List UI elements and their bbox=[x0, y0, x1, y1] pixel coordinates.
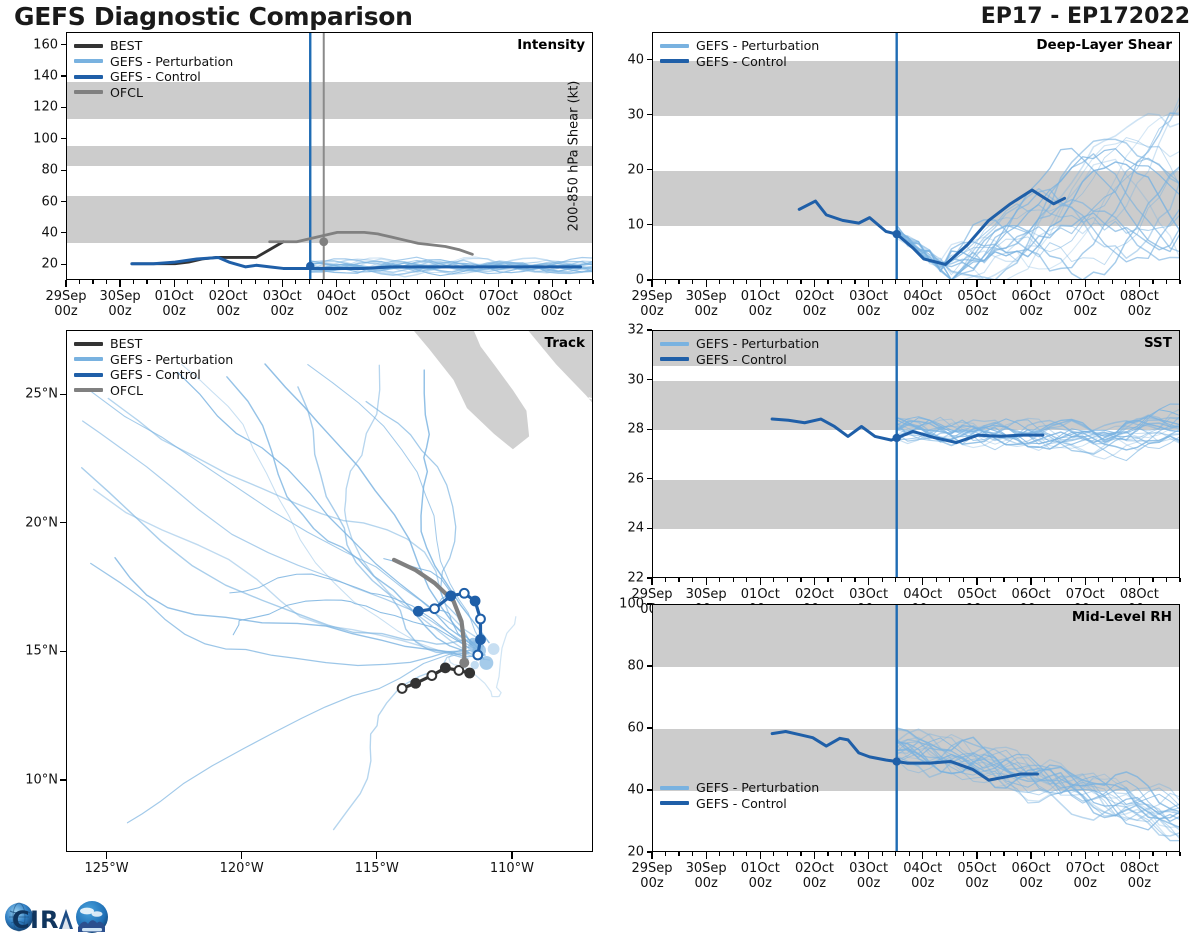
x-tick-mark bbox=[1139, 852, 1140, 859]
x-tick-hour: 00z bbox=[1120, 876, 1159, 891]
x-tick-mark bbox=[1030, 578, 1031, 585]
x-tick-mark bbox=[760, 280, 761, 287]
legend-swatch-control bbox=[74, 75, 103, 79]
x-tick-mark bbox=[1003, 852, 1004, 856]
x-tick-hour: 00z bbox=[686, 876, 727, 891]
x-tick-mark bbox=[1179, 578, 1180, 582]
x-tick-mark bbox=[841, 578, 842, 582]
x-tick-mark bbox=[525, 280, 526, 284]
x-tick-mark bbox=[1071, 578, 1072, 582]
y-tick-label: 0 bbox=[608, 273, 644, 288]
x-tick-mark bbox=[390, 280, 391, 287]
y-tick-label: 60 bbox=[22, 194, 58, 209]
x-tick-mark bbox=[1030, 852, 1031, 859]
x-tick-date: 07Oct bbox=[1066, 861, 1105, 876]
x-tick-mark bbox=[309, 280, 310, 284]
x-tick-mark bbox=[484, 280, 485, 284]
x-tick-mark bbox=[1017, 852, 1018, 856]
x-tick-hour: 00z bbox=[957, 304, 996, 319]
legend-sst: GEFS - PerturbationGEFS - Control bbox=[660, 336, 819, 367]
x-tick-mark bbox=[430, 280, 431, 284]
x-tick-date: 07Oct bbox=[1066, 289, 1105, 304]
ensemble-track-line bbox=[91, 563, 470, 665]
x-tick-label: 03Oct00z bbox=[849, 289, 888, 320]
x-tick-date: 03Oct bbox=[849, 289, 888, 304]
x-tick-mark bbox=[854, 280, 855, 284]
svg-text:I: I bbox=[30, 906, 39, 934]
x-tick-mark bbox=[1044, 852, 1045, 856]
x-tick-mark bbox=[295, 280, 296, 284]
x-tick-hour: 00z bbox=[741, 304, 780, 319]
x-tick-mark bbox=[665, 280, 666, 284]
x-tick-mark bbox=[579, 280, 580, 284]
x-tick-label: 05Oct00z bbox=[957, 289, 996, 320]
x-tick-mark bbox=[1071, 280, 1072, 284]
track-position-marker bbox=[476, 615, 485, 624]
x-tick-label: 29Sep00z bbox=[45, 289, 86, 320]
x-tick-mark bbox=[963, 280, 964, 284]
x-tick-mark bbox=[936, 578, 937, 582]
track-position-marker bbox=[398, 684, 407, 693]
x-tick-mark bbox=[1085, 852, 1086, 859]
x-tick-hour: 00z bbox=[957, 876, 996, 891]
panel-title-shear: Deep-Layer Shear bbox=[1036, 37, 1172, 53]
x-tick-date: 05Oct bbox=[957, 861, 996, 876]
legend-label-perturbation: GEFS - Perturbation bbox=[110, 352, 233, 367]
lat-tick-label: 20°N bbox=[8, 515, 58, 530]
x-tick-hour: 00z bbox=[795, 304, 834, 319]
track-position-marker bbox=[476, 635, 485, 644]
x-tick-mark bbox=[895, 280, 896, 284]
x-tick-label: 06Oct00z bbox=[425, 289, 464, 320]
x-tick-mark bbox=[1179, 852, 1180, 856]
x-tick-mark bbox=[106, 280, 107, 284]
x-tick-hour: 00z bbox=[1012, 876, 1051, 891]
x-tick-mark bbox=[1044, 578, 1045, 582]
x-tick-mark bbox=[1125, 852, 1126, 856]
legend-item-perturbation[interactable]: GEFS - Perturbation bbox=[74, 54, 233, 70]
x-tick-mark bbox=[1071, 852, 1072, 856]
legend-item-control[interactable]: GEFS - Control bbox=[74, 367, 233, 383]
lon-tick-mark bbox=[511, 852, 512, 859]
x-tick-mark bbox=[79, 280, 80, 284]
x-tick-mark bbox=[268, 280, 269, 284]
x-tick-mark bbox=[92, 280, 93, 284]
x-tick-date: 03Oct bbox=[263, 289, 302, 304]
x-tick-date: 30Sep bbox=[686, 289, 727, 304]
x-tick-mark bbox=[787, 852, 788, 856]
series-line-ofcl bbox=[270, 232, 473, 254]
x-tick-date: 06Oct bbox=[1012, 587, 1051, 602]
y-tick-label: 60 bbox=[608, 721, 644, 736]
x-tick-mark bbox=[990, 852, 991, 856]
control-init-marker bbox=[892, 434, 900, 442]
ensemble-member-line bbox=[897, 162, 1180, 272]
legend-label-control: GEFS - Control bbox=[696, 352, 787, 367]
x-tick-mark bbox=[665, 578, 666, 582]
plot-area-sst: SST bbox=[652, 330, 1180, 578]
x-tick-mark bbox=[1058, 280, 1059, 284]
x-tick-hour: 00z bbox=[1120, 304, 1159, 319]
x-tick-mark bbox=[1003, 578, 1004, 582]
x-tick-mark bbox=[1152, 280, 1153, 284]
y-tick-label: 20 bbox=[608, 162, 644, 177]
legend-swatch-perturbation bbox=[660, 44, 689, 48]
y-tick-label: 40 bbox=[608, 783, 644, 798]
x-tick-mark bbox=[773, 280, 774, 284]
x-tick-date: 06Oct bbox=[1012, 289, 1051, 304]
y-tick-label: 40 bbox=[22, 225, 58, 240]
legend-item-ofcl[interactable]: OFCL bbox=[74, 383, 233, 399]
plot-area-rh: Mid-Level RH bbox=[652, 604, 1180, 852]
x-tick-mark bbox=[868, 280, 869, 287]
legend-item-best[interactable]: BEST bbox=[74, 38, 233, 54]
x-tick-mark bbox=[719, 280, 720, 284]
x-tick-label: 08Oct00z bbox=[1120, 289, 1159, 320]
x-tick-label: 04Oct00z bbox=[903, 289, 942, 320]
x-tick-hour: 00z bbox=[849, 304, 888, 319]
legend-label-best: BEST bbox=[110, 336, 142, 351]
series-line-best bbox=[132, 242, 283, 264]
x-tick-mark bbox=[678, 578, 679, 582]
y-tick-label: 32 bbox=[608, 323, 644, 338]
ofcl-init-marker bbox=[319, 237, 328, 246]
lon-tick-mark bbox=[106, 852, 107, 859]
x-tick-mark bbox=[651, 578, 652, 585]
track-position-marker bbox=[441, 663, 450, 672]
track-position-marker bbox=[471, 597, 480, 606]
x-tick-date: 07Oct bbox=[1066, 587, 1105, 602]
track-position-marker bbox=[454, 666, 463, 675]
x-tick-mark bbox=[417, 280, 418, 284]
ofcl-track-endpoint bbox=[459, 658, 469, 668]
lon-tick-label: 125°W bbox=[84, 861, 128, 876]
x-tick-mark bbox=[376, 280, 377, 284]
x-tick-hour: 00z bbox=[686, 304, 727, 319]
ensemble-track-line bbox=[384, 559, 468, 642]
x-tick-mark bbox=[692, 852, 693, 856]
x-tick-hour: 00z bbox=[849, 876, 888, 891]
legend-item-perturbation[interactable]: GEFS - Perturbation bbox=[660, 336, 819, 352]
x-tick-mark bbox=[1112, 852, 1113, 856]
x-tick-mark bbox=[146, 280, 147, 284]
x-tick-label: 30Sep00z bbox=[686, 861, 727, 892]
x-tick-mark bbox=[592, 280, 593, 284]
legend-item-perturbation[interactable]: GEFS - Perturbation bbox=[74, 352, 233, 368]
legend-rh: GEFS - PerturbationGEFS - Control bbox=[660, 780, 819, 811]
x-tick-mark bbox=[133, 280, 134, 284]
legend-item-ofcl[interactable]: OFCL bbox=[74, 85, 233, 101]
legend-swatch-best bbox=[74, 342, 103, 346]
x-tick-hour: 00z bbox=[903, 876, 942, 891]
panel-title-rh: Mid-Level RH bbox=[1072, 609, 1172, 625]
legend-swatch-perturbation bbox=[74, 59, 103, 63]
x-tick-mark bbox=[1139, 280, 1140, 287]
x-tick-mark bbox=[895, 578, 896, 582]
x-tick-mark bbox=[65, 280, 66, 287]
legend-track: BESTGEFS - PerturbationGEFS - ControlOFC… bbox=[74, 336, 233, 398]
legend-swatch-control bbox=[660, 801, 689, 805]
x-tick-mark bbox=[800, 280, 801, 284]
x-tick-mark bbox=[719, 578, 720, 582]
x-tick-mark bbox=[854, 852, 855, 856]
x-tick-date: 02Oct bbox=[795, 289, 834, 304]
x-tick-mark bbox=[909, 280, 910, 284]
x-tick-hour: 00z bbox=[1012, 304, 1051, 319]
legend-item-control[interactable]: GEFS - Control bbox=[74, 69, 233, 85]
x-tick-date: 30Sep bbox=[686, 861, 727, 876]
x-tick-mark bbox=[882, 280, 883, 284]
legend-item-control[interactable]: GEFS - Control bbox=[660, 352, 819, 368]
x-tick-date: 05Oct bbox=[957, 289, 996, 304]
x-tick-mark bbox=[187, 280, 188, 284]
lon-tick-text: 120°W bbox=[220, 861, 264, 876]
x-tick-mark bbox=[1098, 852, 1099, 856]
x-tick-mark bbox=[949, 578, 950, 582]
y-tick-label: 80 bbox=[608, 659, 644, 674]
x-tick-label: 30Sep00z bbox=[100, 289, 141, 320]
x-tick-mark bbox=[363, 280, 364, 284]
x-tick-date: 08Oct bbox=[533, 289, 572, 304]
x-tick-label: 02Oct00z bbox=[795, 861, 834, 892]
x-tick-date: 02Oct bbox=[209, 289, 248, 304]
track-position-marker bbox=[460, 589, 469, 598]
x-tick-mark bbox=[1098, 280, 1099, 284]
x-tick-date: 29Sep bbox=[631, 289, 672, 304]
x-tick-mark bbox=[1003, 280, 1004, 284]
x-tick-label: 07Oct00z bbox=[1066, 861, 1105, 892]
legend-label-perturbation: GEFS - Perturbation bbox=[696, 336, 819, 351]
x-tick-mark bbox=[1125, 578, 1126, 582]
x-tick-date: 29Sep bbox=[45, 289, 86, 304]
x-tick-mark bbox=[922, 852, 923, 859]
x-tick-mark bbox=[814, 578, 815, 585]
panel-title-sst: SST bbox=[1144, 335, 1172, 351]
track-position-marker bbox=[430, 604, 439, 613]
x-tick-hour: 00z bbox=[533, 304, 572, 319]
x-tick-mark bbox=[719, 852, 720, 856]
x-tick-mark bbox=[1152, 852, 1153, 856]
lon-tick-mark bbox=[376, 852, 377, 859]
x-tick-mark bbox=[1166, 280, 1167, 284]
lon-tick-mark bbox=[241, 852, 242, 859]
x-tick-mark bbox=[1017, 578, 1018, 582]
y-tick-label: 24 bbox=[608, 521, 644, 536]
x-tick-mark bbox=[1139, 578, 1140, 585]
y-tick-label: 100 bbox=[22, 131, 58, 146]
x-tick-label: 03Oct00z bbox=[263, 289, 302, 320]
page-title: GEFS Diagnostic Comparison bbox=[14, 2, 413, 31]
x-tick-mark bbox=[882, 852, 883, 856]
x-tick-mark bbox=[201, 280, 202, 284]
x-tick-mark bbox=[1044, 280, 1045, 284]
x-tick-mark bbox=[1152, 578, 1153, 582]
control-init-marker bbox=[892, 230, 900, 238]
series-layer-rh bbox=[653, 605, 1180, 852]
x-tick-label: 07Oct00z bbox=[1066, 289, 1105, 320]
x-tick-mark bbox=[174, 280, 175, 287]
x-tick-label: 06Oct00z bbox=[1012, 289, 1051, 320]
x-tick-hour: 00z bbox=[100, 304, 141, 319]
y-tick-label: 30 bbox=[608, 372, 644, 387]
x-tick-mark bbox=[936, 852, 937, 856]
x-tick-date: 01Oct bbox=[741, 861, 780, 876]
x-tick-mark bbox=[282, 280, 283, 287]
x-tick-mark bbox=[336, 280, 337, 287]
legend-item-perturbation[interactable]: GEFS - Perturbation bbox=[660, 780, 819, 796]
x-tick-mark bbox=[949, 852, 950, 856]
x-tick-mark bbox=[119, 280, 120, 287]
legend-label-control: GEFS - Control bbox=[110, 69, 201, 84]
x-tick-mark bbox=[854, 578, 855, 582]
y-tick-label: 10 bbox=[608, 217, 644, 232]
x-tick-date: 02Oct bbox=[795, 861, 834, 876]
x-tick-label: 05Oct00z bbox=[371, 289, 410, 320]
x-tick-mark bbox=[922, 280, 923, 287]
x-tick-mark bbox=[800, 852, 801, 856]
x-tick-mark bbox=[909, 852, 910, 856]
legend-swatch-best bbox=[74, 44, 103, 49]
x-tick-mark bbox=[746, 578, 747, 582]
plot-area-track: Track bbox=[66, 330, 593, 852]
x-tick-label: 05Oct00z bbox=[957, 861, 996, 892]
legend-swatch-control bbox=[74, 373, 103, 377]
legend-label-perturbation: GEFS - Perturbation bbox=[110, 54, 233, 69]
x-tick-date: 04Oct bbox=[903, 587, 942, 602]
legend-label-control: GEFS - Control bbox=[696, 54, 787, 69]
legend-swatch-perturbation bbox=[660, 342, 689, 346]
series-layer-shear bbox=[653, 33, 1180, 280]
x-tick-mark bbox=[322, 280, 323, 284]
x-tick-date: 08Oct bbox=[1120, 587, 1159, 602]
svg-text:C: C bbox=[12, 906, 30, 934]
x-tick-mark bbox=[787, 578, 788, 582]
x-tick-hour: 00z bbox=[479, 304, 518, 319]
legend-swatch-control bbox=[660, 357, 689, 361]
x-tick-date: 04Oct bbox=[903, 861, 942, 876]
ensemble-track-line bbox=[178, 373, 471, 645]
y-tick-label: 20 bbox=[608, 845, 644, 860]
x-tick-label: 08Oct00z bbox=[1120, 861, 1159, 892]
x-tick-mark bbox=[1058, 578, 1059, 582]
x-tick-date: 01Oct bbox=[741, 587, 780, 602]
lon-tick-text: 115°W bbox=[355, 861, 399, 876]
x-tick-mark bbox=[1058, 852, 1059, 856]
x-tick-mark bbox=[963, 578, 964, 582]
x-tick-mark bbox=[990, 578, 991, 582]
x-tick-label: 30Sep00z bbox=[686, 289, 727, 320]
x-tick-mark bbox=[868, 578, 869, 585]
x-tick-mark bbox=[827, 852, 828, 856]
legend-swatch-control bbox=[660, 59, 689, 63]
y-tick-label: 80 bbox=[22, 163, 58, 178]
legend-swatch-perturbation bbox=[74, 357, 103, 361]
x-tick-date: 01Oct bbox=[741, 289, 780, 304]
x-tick-mark bbox=[349, 280, 350, 284]
track-position-marker bbox=[465, 669, 474, 678]
y-tick-label: 140 bbox=[22, 68, 58, 83]
x-tick-mark bbox=[692, 578, 693, 582]
x-tick-mark bbox=[746, 280, 747, 284]
x-tick-date: 05Oct bbox=[957, 587, 996, 602]
x-tick-mark bbox=[457, 280, 458, 284]
x-tick-hour: 00z bbox=[209, 304, 248, 319]
x-tick-mark bbox=[1125, 280, 1126, 284]
x-tick-date: 04Oct bbox=[317, 289, 356, 304]
legend-intensity: BESTGEFS - PerturbationGEFS - ControlOFC… bbox=[74, 38, 233, 100]
lon-tick-label: 110°W bbox=[490, 861, 534, 876]
y-tick-label: 20 bbox=[22, 257, 58, 272]
x-tick-label: 04Oct00z bbox=[903, 861, 942, 892]
x-tick-mark bbox=[1030, 280, 1031, 287]
x-tick-mark bbox=[733, 852, 734, 856]
y-tick-label: 160 bbox=[22, 37, 58, 52]
x-tick-label: 04Oct00z bbox=[317, 289, 356, 320]
x-tick-mark bbox=[787, 280, 788, 284]
x-tick-mark bbox=[1085, 280, 1086, 287]
x-tick-mark bbox=[498, 280, 499, 287]
x-tick-mark bbox=[746, 852, 747, 856]
x-tick-mark bbox=[651, 852, 652, 859]
lat-tick-label: 25°N bbox=[8, 387, 58, 402]
x-tick-label: 02Oct00z bbox=[209, 289, 248, 320]
x-tick-date: 30Sep bbox=[100, 289, 141, 304]
x-tick-date: 08Oct bbox=[1120, 861, 1159, 876]
x-tick-mark bbox=[773, 578, 774, 582]
x-tick-mark bbox=[976, 578, 977, 585]
lon-tick-label: 120°W bbox=[220, 861, 264, 876]
y-tick-label: 120 bbox=[22, 100, 58, 115]
plot-area-shear: Deep-Layer Shear bbox=[652, 32, 1180, 280]
x-tick-date: 29Sep bbox=[631, 861, 672, 876]
control-init-marker bbox=[306, 262, 314, 270]
x-tick-mark bbox=[976, 852, 977, 859]
x-tick-hour: 00z bbox=[795, 876, 834, 891]
track-position-marker bbox=[473, 651, 482, 660]
legend-item-perturbation[interactable]: GEFS - Perturbation bbox=[660, 38, 819, 54]
x-tick-mark bbox=[651, 280, 652, 287]
x-tick-mark bbox=[665, 852, 666, 856]
x-tick-mark bbox=[1166, 578, 1167, 582]
x-tick-label: 08Oct00z bbox=[533, 289, 572, 320]
y-tick-label: 22 bbox=[608, 571, 644, 586]
x-tick-mark bbox=[228, 280, 229, 287]
legend-label-best: BEST bbox=[110, 38, 142, 53]
x-tick-mark bbox=[511, 280, 512, 284]
legend-item-control[interactable]: GEFS - Control bbox=[660, 796, 819, 812]
x-tick-mark bbox=[692, 280, 693, 284]
x-tick-mark bbox=[552, 280, 553, 287]
x-tick-mark bbox=[760, 578, 761, 585]
x-tick-hour: 00z bbox=[1066, 876, 1105, 891]
x-tick-mark bbox=[1098, 578, 1099, 582]
x-tick-mark bbox=[1166, 852, 1167, 856]
x-tick-mark bbox=[706, 852, 707, 859]
x-tick-mark bbox=[895, 852, 896, 856]
x-tick-mark bbox=[565, 280, 566, 284]
track-position-marker bbox=[446, 591, 455, 600]
legend-item-best[interactable]: BEST bbox=[74, 336, 233, 352]
y-tick-label: 40 bbox=[608, 52, 644, 67]
x-tick-mark bbox=[706, 280, 707, 287]
legend-item-control[interactable]: GEFS - Control bbox=[660, 54, 819, 70]
x-tick-date: 05Oct bbox=[371, 289, 410, 304]
x-tick-label: 01Oct00z bbox=[741, 861, 780, 892]
track-position-marker bbox=[414, 607, 423, 616]
x-tick-mark bbox=[841, 280, 842, 284]
x-tick-mark bbox=[949, 280, 950, 284]
x-tick-mark bbox=[471, 280, 472, 284]
